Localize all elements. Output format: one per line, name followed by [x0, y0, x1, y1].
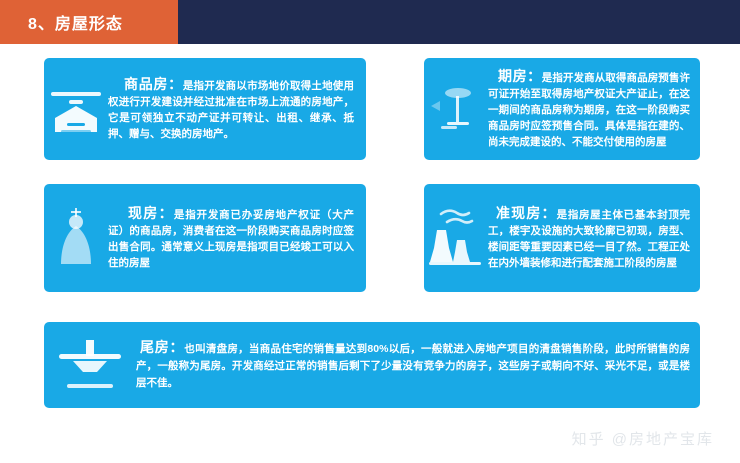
house-icon: [44, 58, 108, 160]
card-quasi-completed-housing[interactable]: 准现房：是指房屋主体已基本封顶完工，楼宇及设施的大致轮廓已初现，房型、楼间距等重…: [424, 184, 700, 292]
card-forward-delivery-housing[interactable]: 期房：是指开发商从取得商品房预售许可证开始至取得房地产权证大产证止，在这一期间的…: [424, 58, 700, 160]
cooling-tower-icon: [424, 184, 488, 292]
card-term: 尾房：: [140, 339, 184, 355]
bridge-tower-icon: [44, 322, 136, 408]
card-body: 准现房：是指房屋主体已基本封顶完工，楼宇及设施的大致轮廓已初现，房型、楼间距等重…: [488, 199, 700, 277]
card-description: 也叫清盘房，当商品住宅的销售量达到80%以后，一般就进入房地产项目的清盘销售阶段…: [136, 343, 690, 389]
cards-board: 商品房：是指开发商以市场地价取得土地使用权进行开发建设并经过批准在市场上流通的房…: [0, 44, 740, 463]
card-paragraph: 准现房：是指房屋主体已基本封顶完工，楼宇及设施的大致轮廓已初现，房型、楼间距等重…: [488, 205, 690, 271]
crane-icon: [424, 58, 488, 160]
card-term: 商品房：: [124, 76, 183, 92]
card-term: 准现房：: [496, 205, 557, 221]
page-title: 8、房屋形态: [28, 10, 123, 34]
card-body: 商品房：是指开发商以市场地价取得土地使用权进行开发建设并经过批准在市场上流通的房…: [108, 70, 366, 148]
card-paragraph: 商品房：是指开发商以市场地价取得土地使用权进行开发建设并经过批准在市场上流通的房…: [108, 76, 354, 142]
card-body: 期房：是指开发商从取得商品房预售许可证开始至取得房地产权证大产证止，在这一期间的…: [488, 62, 700, 156]
card-completed-housing[interactable]: 现房：是指开发商已办妥房地产权证（大产证）的商品房，消费者在这一阶段购买商品房时…: [44, 184, 366, 292]
watermark: 知乎 @房地产宝库: [572, 428, 714, 449]
card-paragraph: 尾房：也叫清盘房，当商品住宅的销售量达到80%以后，一般就进入房地产项目的清盘销…: [136, 339, 690, 392]
card-tail-housing[interactable]: 尾房：也叫清盘房，当商品住宅的销售量达到80%以后，一般就进入房地产项目的清盘销…: [44, 322, 700, 408]
card-paragraph: 期房：是指开发商从取得商品房预售许可证开始至取得房地产权证大产证止，在这一期间的…: [488, 68, 690, 150]
card-commodity-housing[interactable]: 商品房：是指开发商以市场地价取得土地使用权进行开发建设并经过批准在市场上流通的房…: [44, 58, 366, 160]
header-orange-block: 8、房屋形态: [0, 0, 178, 44]
card-body: 尾房：也叫清盘房，当商品住宅的销售量达到80%以后，一般就进入房地产项目的清盘销…: [136, 333, 700, 398]
card-term: 现房：: [128, 205, 174, 221]
card-body: 现房：是指开发商已办妥房地产权证（大产证）的商品房，消费者在这一阶段购买商品房时…: [108, 199, 366, 277]
header-navy-block: [178, 0, 740, 44]
dome-tower-icon: [44, 184, 108, 292]
card-paragraph: 现房：是指开发商已办妥房地产权证（大产证）的商品房，消费者在这一阶段购买商品房时…: [108, 205, 354, 271]
card-term: 期房：: [498, 68, 542, 84]
page-header-banner: 8、房屋形态: [0, 0, 740, 44]
